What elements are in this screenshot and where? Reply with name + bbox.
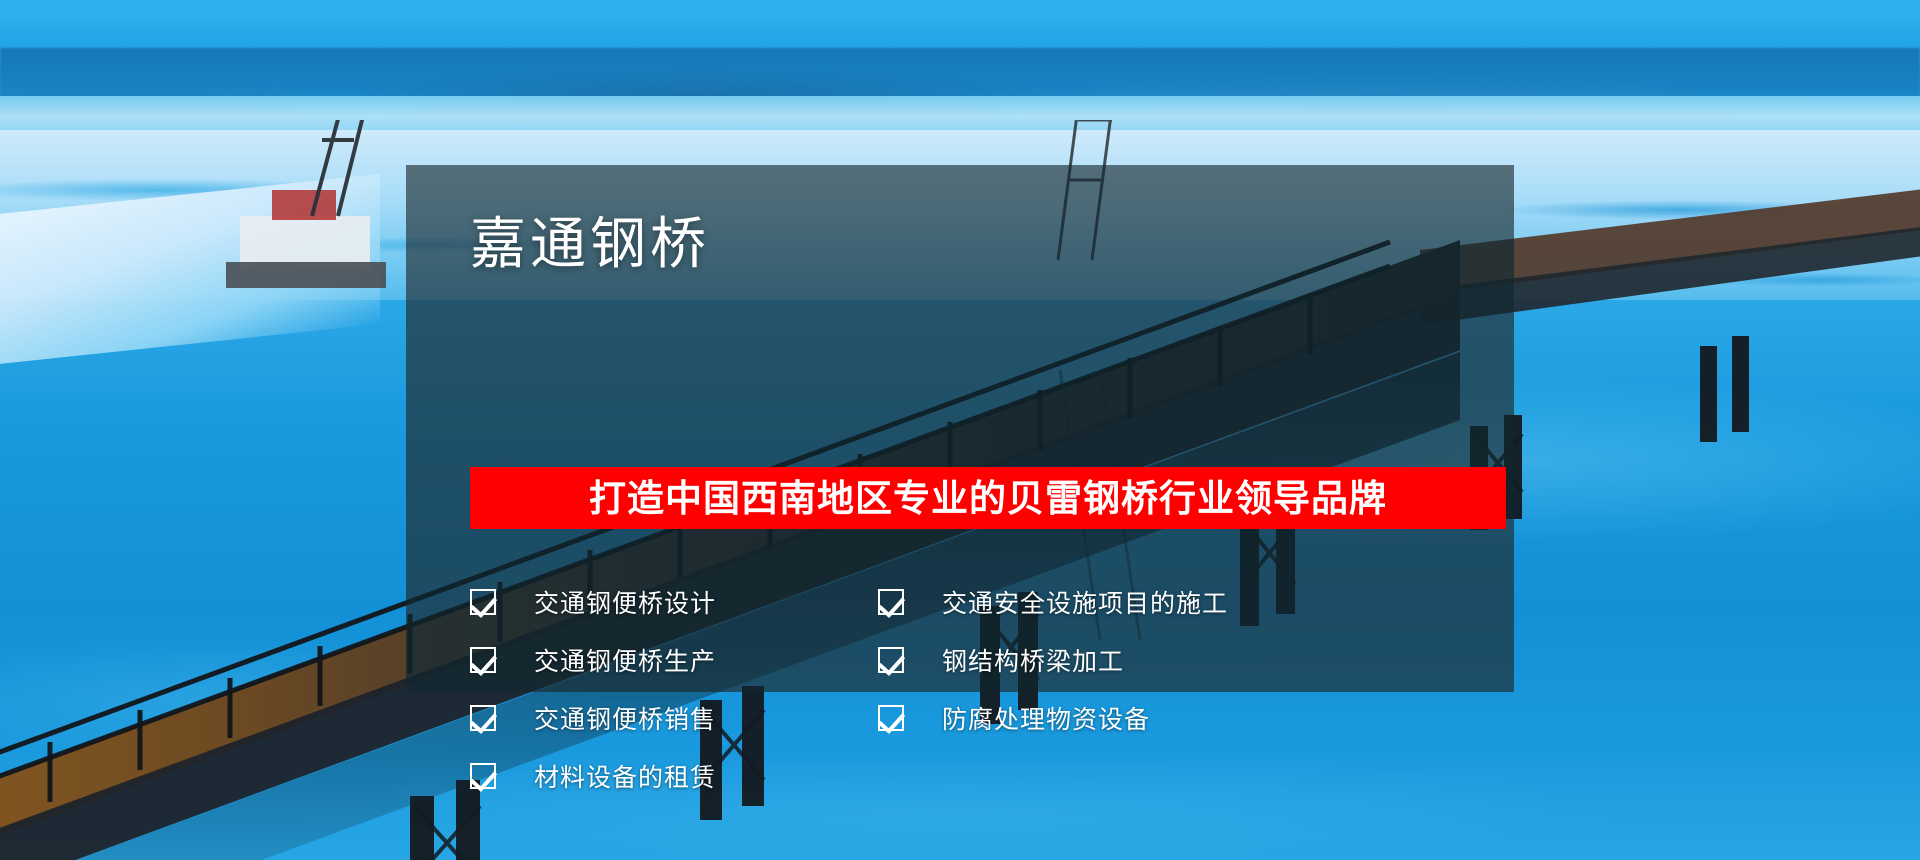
checked-checkbox-icon [470,589,496,615]
slogan-text: 打造中国西南地区专业的贝雷钢桥行业领导品牌 [589,480,1387,517]
feature-label: 交通钢便桥销售 [534,700,716,736]
feature-column-right: 交通安全设施项目的施工 钢结构桥梁加工 防腐处理物资设备 [878,573,1398,805]
hero-banner: 嘉通钢桥 打造中国西南地区专业的贝雷钢桥行业领导品牌 交通钢便桥设计 交通钢便桥… [0,0,1920,860]
checked-checkbox-icon [470,763,496,789]
list-item[interactable]: 交通钢便桥销售 [470,689,878,747]
checked-checkbox-icon [878,589,904,615]
slogan-banner: 打造中国西南地区专业的贝雷钢桥行业领导品牌 [470,467,1506,529]
feature-label: 交通安全设施项目的施工 [942,584,1228,620]
feature-label: 交通钢便桥设计 [534,584,716,620]
feature-label: 钢结构桥梁加工 [942,642,1124,678]
list-item[interactable]: 交通钢便桥生产 [470,631,878,689]
list-item[interactable]: 防腐处理物资设备 [878,689,1398,747]
checked-checkbox-icon [878,647,904,673]
list-item[interactable]: 材料设备的租赁 [470,747,878,805]
list-item[interactable]: 交通安全设施项目的施工 [878,573,1398,631]
feature-label: 防腐处理物资设备 [942,700,1150,736]
page-title: 嘉通钢桥 [470,213,1514,275]
list-item[interactable]: 交通钢便桥设计 [470,573,878,631]
list-item[interactable]: 钢结构桥梁加工 [878,631,1398,689]
checked-checkbox-icon [878,705,904,731]
feature-list: 交通钢便桥设计 交通钢便桥生产 交通钢便桥销售 材料设备的租赁 [470,573,1490,805]
feature-label: 交通钢便桥生产 [534,642,716,678]
hero-info-panel: 嘉通钢桥 打造中国西南地区专业的贝雷钢桥行业领导品牌 交通钢便桥设计 交通钢便桥… [406,165,1514,692]
checked-checkbox-icon [470,647,496,673]
feature-column-left: 交通钢便桥设计 交通钢便桥生产 交通钢便桥销售 材料设备的租赁 [470,573,878,805]
feature-label: 材料设备的租赁 [534,758,716,794]
checked-checkbox-icon [470,705,496,731]
